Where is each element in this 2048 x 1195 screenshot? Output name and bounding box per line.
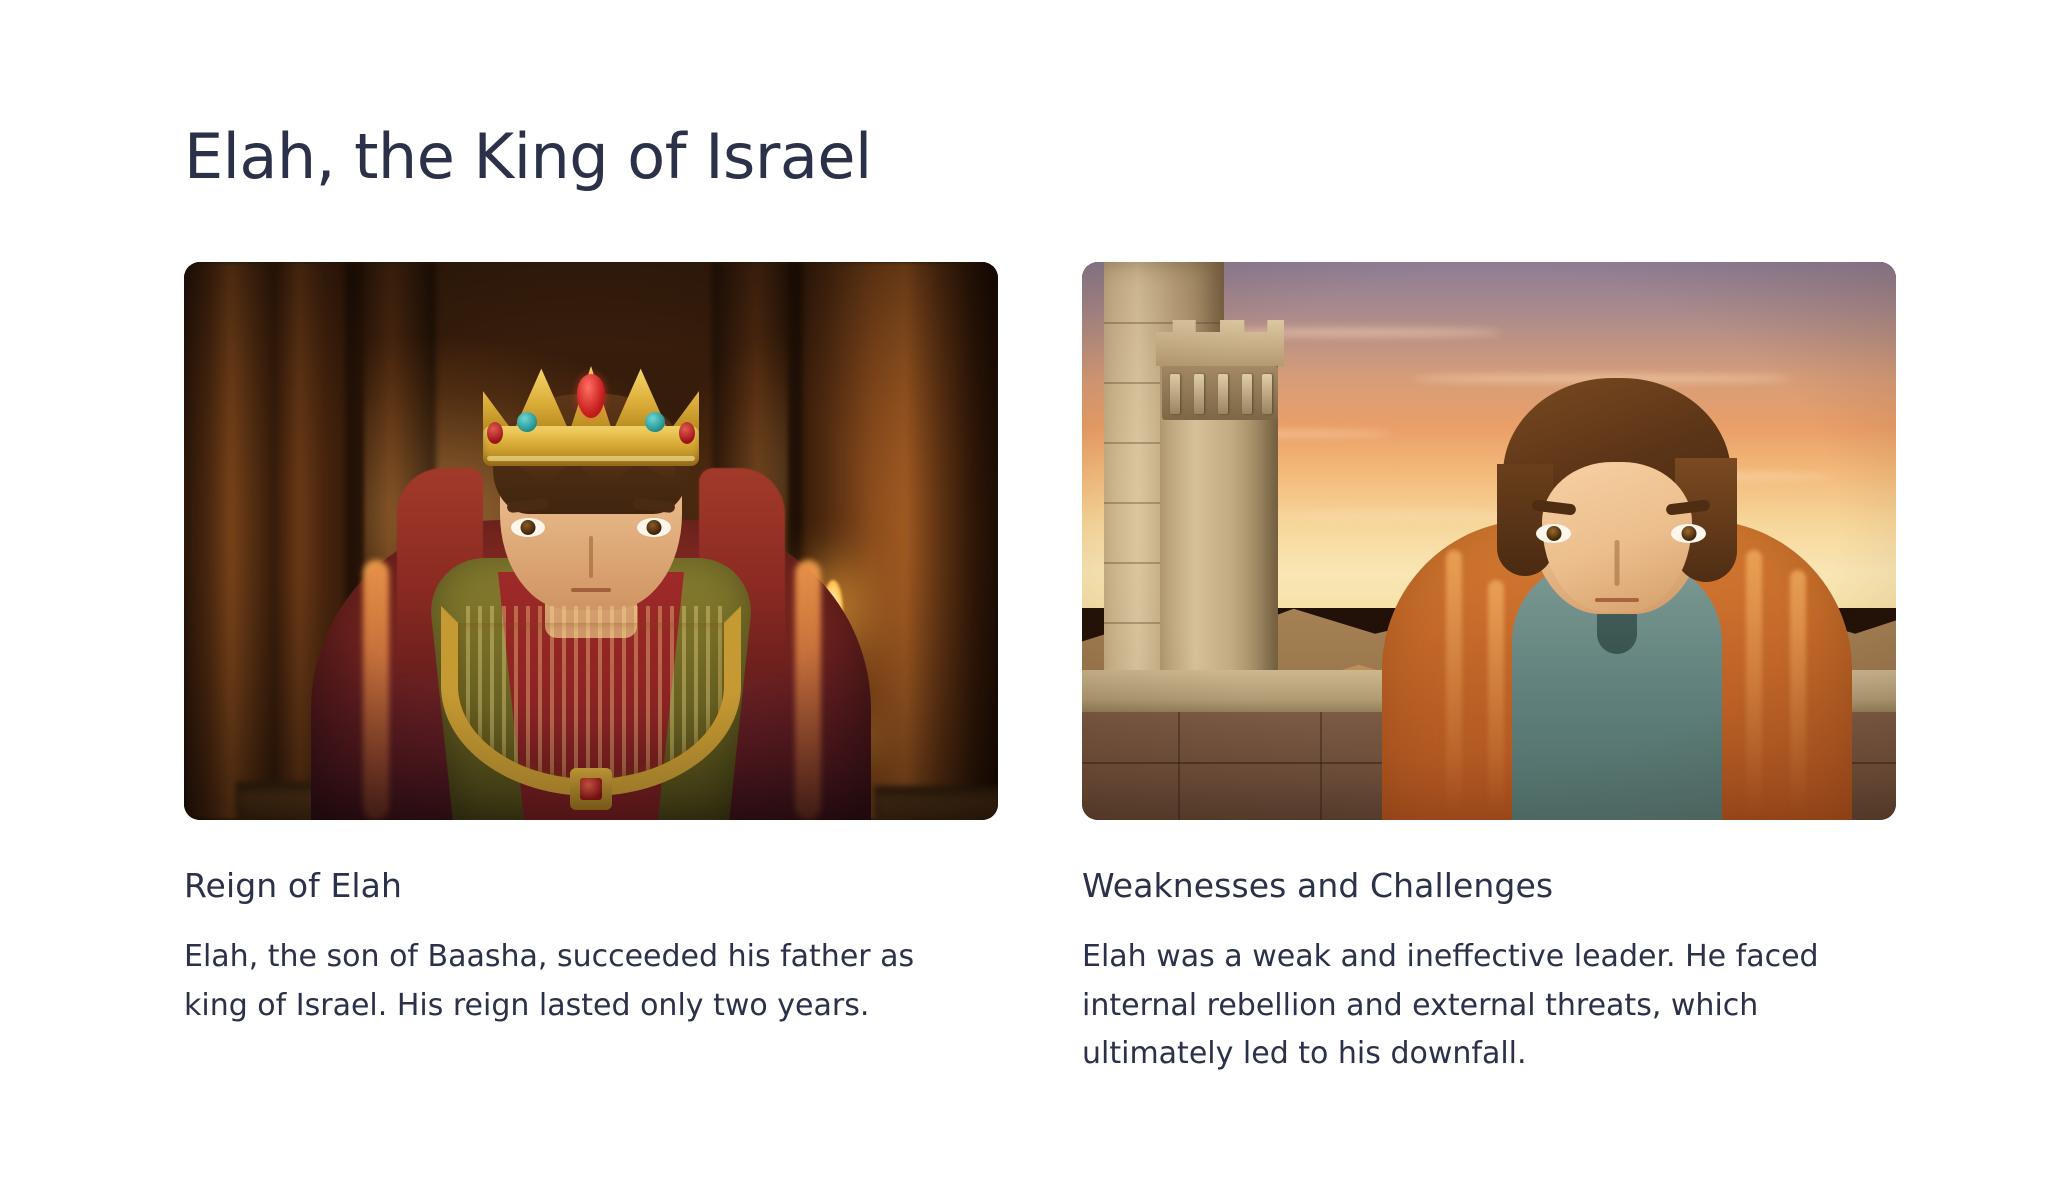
- card-body-text: Elah was a weak and ineffective leader. …: [1082, 933, 1822, 1079]
- card-reign-of-elah: Reign of Elah Elah, the son of Baasha, s…: [184, 262, 998, 1109]
- card-heading: Reign of Elah: [184, 866, 998, 906]
- card-heading: Weaknesses and Challenges: [1082, 866, 1896, 906]
- king-elah-throne-room-illustration: [184, 262, 998, 820]
- throne-room-scene: [184, 262, 998, 820]
- page-title: Elah, the King of Israel: [184, 120, 872, 193]
- card-weaknesses-and-challenges: Weaknesses and Challenges Elah was a wea…: [1082, 262, 1896, 1109]
- rampart-scene: [1082, 262, 1896, 820]
- scene-vignette: [184, 262, 998, 820]
- troubled-man-on-rampart-illustration: [1082, 262, 1896, 820]
- content-columns: Reign of Elah Elah, the son of Baasha, s…: [184, 262, 1896, 1109]
- slide-root: Elah, the King of Israel: [0, 0, 2048, 1195]
- scene-vignette: [1082, 262, 1896, 820]
- card-body-text: Elah, the son of Baasha, succeeded his f…: [184, 933, 974, 1030]
